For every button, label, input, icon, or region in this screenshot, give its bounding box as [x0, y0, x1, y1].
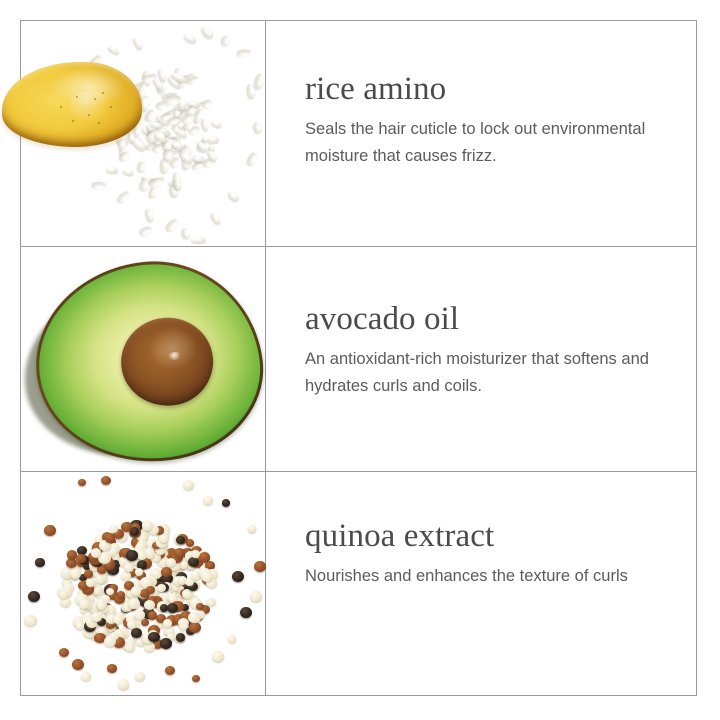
quinoa-seed [175, 593, 185, 602]
quinoa-seed [181, 604, 190, 612]
quinoa-seed [123, 617, 136, 629]
quinoa-seed [76, 622, 84, 630]
rice-grain [143, 71, 152, 87]
quinoa-seed [92, 542, 104, 553]
quinoa-seed [172, 566, 182, 575]
quinoa-seed [148, 625, 160, 636]
quinoa-seed [107, 619, 116, 628]
quinoa-seed [114, 594, 125, 604]
quinoa-seed [106, 622, 116, 631]
avocado-skin [25, 249, 274, 475]
quinoa-seed [174, 533, 186, 544]
quinoa-seed [157, 556, 169, 567]
quinoa-seed [115, 612, 125, 621]
quinoa-seed [106, 621, 114, 629]
quinoa-seed [118, 679, 129, 689]
quinoa-seed [104, 584, 117, 596]
quinoa-seed [91, 557, 102, 567]
quinoa-seed [104, 605, 117, 617]
rice-grain [157, 81, 167, 95]
quinoa-seed [59, 590, 68, 599]
quinoa-seed [131, 537, 143, 548]
quinoa-seed [144, 642, 155, 652]
quinoa-seed [137, 540, 147, 549]
rice-amino-text-block: rice amino Seals the hair cuticle to loc… [265, 20, 697, 246]
quinoa-seed [122, 596, 130, 604]
quinoa-seed [205, 561, 214, 570]
quinoa-seed [158, 541, 168, 550]
quinoa-seed [84, 621, 96, 632]
quinoa-seed [162, 582, 172, 591]
quinoa-seed [102, 556, 113, 566]
quinoa-seed [24, 615, 37, 627]
quinoa-seed [130, 520, 142, 531]
quinoa-seed [154, 571, 166, 582]
quinoa-seed [99, 557, 108, 565]
quinoa-seed [195, 610, 206, 620]
quinoa-seed [157, 529, 169, 540]
quinoa-seed [147, 544, 158, 554]
quinoa-seed [171, 589, 182, 600]
rice-grain [159, 133, 175, 147]
quinoa-seed [83, 562, 91, 570]
quinoa-seed [176, 633, 186, 642]
quinoa-seed [176, 536, 185, 544]
quinoa-seed-pile [20, 471, 265, 696]
quinoa-seed [126, 552, 136, 562]
rice-grain [162, 140, 173, 153]
quinoa-seed [143, 606, 152, 614]
quinoa-seed [178, 549, 190, 560]
quinoa-seed [110, 632, 119, 640]
rice-grain [200, 24, 216, 40]
quinoa-seed [228, 635, 237, 643]
quinoa-seed [129, 567, 140, 577]
rice-grain [122, 167, 134, 176]
quinoa-seed [104, 636, 116, 647]
quinoa-seed [139, 526, 149, 535]
rice-grain [253, 122, 262, 134]
quinoa-seed [178, 618, 189, 628]
quinoa-seed [136, 557, 149, 569]
quinoa-seed [98, 552, 111, 564]
rice-grain [182, 228, 191, 240]
rice-grain [162, 93, 179, 103]
quinoa-seed [146, 539, 159, 551]
rice-grain [153, 130, 168, 145]
quinoa-seed [95, 535, 104, 543]
quinoa-seed [79, 555, 89, 564]
quinoa-seed [106, 614, 117, 624]
rice-grain [153, 136, 163, 149]
rice-grain [140, 96, 151, 109]
quinoa-seed [71, 572, 80, 580]
quinoa-seed [70, 568, 82, 579]
quinoa-seed [180, 589, 189, 597]
quinoa-seed [141, 547, 154, 559]
quinoa-seed [156, 538, 167, 548]
quinoa-seed [156, 595, 165, 604]
quinoa-seed [127, 620, 137, 629]
rice-grain [178, 146, 192, 161]
rice-grain [91, 182, 105, 189]
quinoa-seed [232, 571, 245, 583]
quinoa-seed [79, 599, 90, 609]
rice-grain [200, 99, 213, 111]
quinoa-seed [94, 617, 107, 629]
rice-grain [132, 37, 143, 51]
rice-grain [164, 218, 180, 234]
quinoa-seed [185, 551, 197, 562]
rice-grain [159, 128, 172, 137]
quinoa-seed [137, 532, 148, 542]
quinoa-seed [80, 595, 91, 605]
avocado-pit [116, 313, 218, 412]
quinoa-seed [203, 560, 212, 568]
quinoa-seed [113, 529, 124, 539]
rice-grain [210, 119, 222, 129]
quinoa-seed [90, 552, 101, 562]
rice-grain [179, 105, 192, 113]
quinoa-seed [206, 569, 218, 580]
quinoa-seed [140, 589, 150, 598]
quinoa-seed [135, 610, 146, 620]
rice-grain [147, 126, 160, 133]
quinoa-seed [66, 558, 77, 569]
quinoa-seed [104, 559, 116, 570]
rice-grain [106, 166, 118, 174]
ingredient-row-quinoa-extract: quinoa extract Nourishes and enhances th… [20, 471, 697, 696]
quinoa-seed [62, 578, 72, 587]
rice-grain [190, 101, 207, 116]
quinoa-seed [188, 582, 198, 591]
quinoa-seed [191, 571, 200, 580]
quinoa-seed [119, 548, 130, 559]
quinoa-seed [28, 591, 41, 603]
quinoa-seed [205, 571, 214, 579]
quinoa-seed [185, 578, 194, 586]
quinoa-seed [159, 583, 169, 593]
rice-grain [162, 136, 170, 148]
quinoa-seed [139, 596, 151, 607]
rice-grain [246, 152, 260, 168]
quinoa-seed [109, 543, 119, 553]
rice-grain [152, 125, 169, 137]
quinoa-seed [78, 588, 89, 598]
quinoa-seed [136, 591, 146, 600]
quinoa-seed [44, 525, 56, 536]
rice-grain [167, 180, 180, 189]
rice-grain [183, 143, 192, 156]
rice-grain [141, 74, 157, 85]
rice-grain [144, 109, 157, 124]
quinoa-seed [192, 675, 200, 683]
quinoa-seed [148, 586, 160, 597]
quinoa-seed [142, 520, 154, 531]
quinoa-seed [91, 548, 102, 558]
quinoa-seed [109, 565, 117, 573]
quinoa-seed [121, 548, 132, 558]
quinoa-seed [60, 597, 71, 607]
rice-grain [118, 144, 128, 158]
quinoa-seed [171, 586, 182, 596]
quinoa-seed [154, 549, 165, 559]
quinoa-seed [141, 619, 149, 626]
rice-grain [164, 137, 179, 150]
quinoa-seed [186, 617, 196, 626]
rice-grain [132, 137, 148, 153]
quinoa-seed [107, 664, 116, 673]
quinoa-seed [81, 672, 91, 681]
rice-grain [163, 144, 177, 153]
quinoa-seed [167, 593, 177, 603]
quinoa-seed [122, 641, 132, 650]
rice-grain [173, 109, 182, 122]
rice-grain [183, 120, 194, 133]
rice-grain [192, 162, 205, 172]
quinoa-seed [167, 633, 175, 641]
quinoa-seed [203, 496, 214, 506]
quinoa-seed [142, 608, 155, 620]
quinoa-seed [113, 629, 125, 640]
quinoa-seed [146, 577, 159, 589]
rice-grain [156, 128, 169, 140]
rice-grain [150, 120, 164, 128]
rice-grain [145, 128, 161, 142]
quinoa-seed [83, 626, 96, 638]
quinoa-seed [179, 622, 188, 630]
rice-grain [184, 104, 197, 117]
quinoa-seed [121, 604, 131, 613]
quinoa-seed [91, 612, 102, 622]
quinoa-seed [155, 579, 165, 589]
quinoa-seed [146, 586, 155, 594]
quinoa-seed [102, 532, 113, 542]
quinoa-seed [186, 539, 194, 547]
quinoa-seed [125, 643, 135, 652]
rice-grain [156, 102, 170, 112]
quinoa-seed [124, 581, 134, 590]
quinoa-seed [93, 568, 104, 578]
quinoa-seed [196, 603, 204, 610]
rice-grain [201, 118, 210, 132]
quinoa-seed [173, 614, 185, 625]
rice-grain [148, 184, 159, 199]
quinoa-seed [79, 574, 88, 582]
quinoa-seed [178, 581, 190, 592]
rice-grain [147, 128, 160, 138]
rice-grain [147, 127, 157, 144]
rice-grain [174, 179, 182, 190]
quinoa-seed [86, 604, 98, 615]
rice-grain [194, 156, 204, 162]
quinoa-extract-text-block: quinoa extract Nourishes and enhances th… [265, 471, 697, 696]
quinoa-seed [102, 557, 110, 564]
quinoa-seed [100, 605, 109, 613]
quinoa-seed [124, 563, 134, 572]
rice-grain [148, 176, 166, 189]
quinoa-seed [176, 585, 184, 593]
quinoa-seed [162, 593, 173, 603]
quinoa-seed [86, 579, 95, 587]
quinoa-seed [101, 595, 109, 603]
ingredient-row-rice-amino: rice amino Seals the hair cuticle to loc… [20, 20, 697, 246]
rice-grain [194, 108, 205, 125]
rice-grain [117, 191, 131, 205]
quinoa-seed [148, 632, 160, 643]
quinoa-seed [148, 630, 158, 640]
ingredient-row-avocado-oil: avocado oil An antioxidant-rich moisturi… [20, 246, 697, 471]
quinoa-seed [130, 620, 141, 630]
quinoa-seed [88, 552, 99, 562]
quinoa-seed [177, 588, 188, 598]
tricolor-quinoa-seeds-image [20, 471, 265, 696]
rice-grain [168, 186, 179, 200]
quinoa-seed [35, 558, 44, 567]
rice-grain [237, 50, 251, 58]
quinoa-seed [97, 574, 108, 584]
rice-grain [151, 144, 165, 154]
rice-grain [187, 76, 199, 86]
avocado-oil-text-block: avocado oil An antioxidant-rich moisturi… [265, 246, 697, 471]
quinoa-seed [172, 561, 185, 573]
quinoa-seed [135, 543, 146, 553]
quinoa-seed [179, 561, 189, 570]
quinoa-seed [82, 616, 94, 627]
quinoa-seed [107, 585, 115, 593]
rice-grain [183, 32, 197, 44]
quinoa-seed [97, 627, 107, 636]
quinoa-seed [112, 552, 121, 560]
quinoa-seed [110, 525, 118, 533]
quinoa-seed [150, 568, 162, 579]
quinoa-seed [123, 602, 132, 611]
rice-grain [161, 149, 174, 162]
rice-grain [174, 102, 187, 111]
quinoa-seed [88, 580, 98, 589]
quinoa-seed [202, 575, 213, 585]
quinoa-seed [139, 590, 149, 599]
quinoa-seed [137, 560, 147, 569]
quinoa-seed [163, 619, 173, 628]
quinoa-seed [90, 632, 99, 640]
rice-grain [128, 132, 135, 144]
quinoa-seed [188, 557, 199, 567]
quinoa-seed [68, 564, 78, 573]
rice-grain [153, 77, 166, 92]
rice-grain [181, 155, 190, 171]
quinoa-seed [129, 554, 142, 566]
rice-grain [146, 130, 159, 144]
quinoa-seed [94, 633, 106, 644]
rice-grain [157, 69, 166, 83]
quinoa-seed [185, 561, 195, 570]
oil-droplet-shape [2, 62, 142, 147]
quinoa-seed [160, 638, 172, 649]
rice-grain [161, 113, 173, 122]
quinoa-seed [167, 603, 178, 613]
quinoa-seed [101, 476, 111, 486]
quinoa-seed [177, 534, 188, 544]
rice-grain [206, 149, 218, 163]
quinoa-seed [78, 479, 86, 487]
ingredient-title: avocado oil [305, 302, 697, 337]
quinoa-seed [181, 548, 194, 560]
quinoa-seed [127, 557, 136, 565]
ingredient-description: Nourishes and enhances the texture of cu… [305, 563, 695, 590]
quinoa-seed [124, 596, 134, 606]
rice-grain [246, 84, 256, 100]
quinoa-seed [116, 531, 128, 542]
quinoa-seed [161, 581, 171, 590]
rice-grain [196, 140, 209, 154]
quinoa-seed [89, 604, 99, 614]
quinoa-seed [169, 560, 181, 571]
quinoa-seed [163, 550, 175, 561]
quinoa-seed [97, 607, 106, 615]
avocado-graphic [22, 250, 265, 470]
quinoa-seed [121, 603, 131, 612]
quinoa-seed [172, 599, 183, 610]
quinoa-seed [188, 562, 197, 570]
quinoa-seed [169, 596, 177, 604]
quinoa-seed [86, 616, 99, 628]
quinoa-seed [84, 570, 93, 579]
quinoa-seed [78, 581, 89, 591]
quinoa-seed [161, 567, 172, 577]
quinoa-seed [129, 584, 142, 596]
quinoa-seed [166, 548, 178, 559]
rice-grain [173, 172, 182, 186]
quinoa-seed [126, 615, 136, 624]
ingredient-title: rice amino [305, 72, 697, 107]
quinoa-seed [107, 537, 117, 546]
quinoa-seed [165, 603, 176, 613]
quinoa-seed [129, 527, 141, 538]
quinoa-seed [155, 545, 166, 555]
quinoa-seed [188, 612, 201, 624]
quinoa-seed [130, 527, 139, 535]
quinoa-seed [140, 558, 152, 569]
quinoa-seed [131, 586, 141, 596]
quinoa-seed [199, 550, 208, 558]
quinoa-seed [148, 525, 159, 535]
quinoa-seed [161, 639, 171, 648]
quinoa-seed [99, 540, 111, 551]
rice-grain [107, 44, 120, 56]
quinoa-seed [176, 572, 188, 583]
quinoa-seed [161, 573, 173, 584]
rice-grain [155, 123, 168, 136]
quinoa-seed [92, 549, 103, 559]
quinoa-seed [86, 595, 96, 604]
quinoa-seed [152, 639, 163, 649]
quinoa-seed [73, 616, 86, 628]
quinoa-seed [133, 632, 144, 642]
quinoa-seed [201, 571, 213, 582]
quinoa-seed [144, 548, 156, 559]
quinoa-seed [212, 651, 225, 663]
quinoa-seed [156, 614, 166, 623]
rice-grain [141, 125, 155, 137]
quinoa-seed [151, 553, 161, 562]
quinoa-seed [111, 625, 119, 633]
quinoa-seed [101, 626, 111, 635]
quinoa-seed [174, 548, 185, 558]
quinoa-seed [159, 534, 169, 543]
quinoa-seed [92, 545, 102, 554]
quinoa-seed [178, 576, 187, 585]
